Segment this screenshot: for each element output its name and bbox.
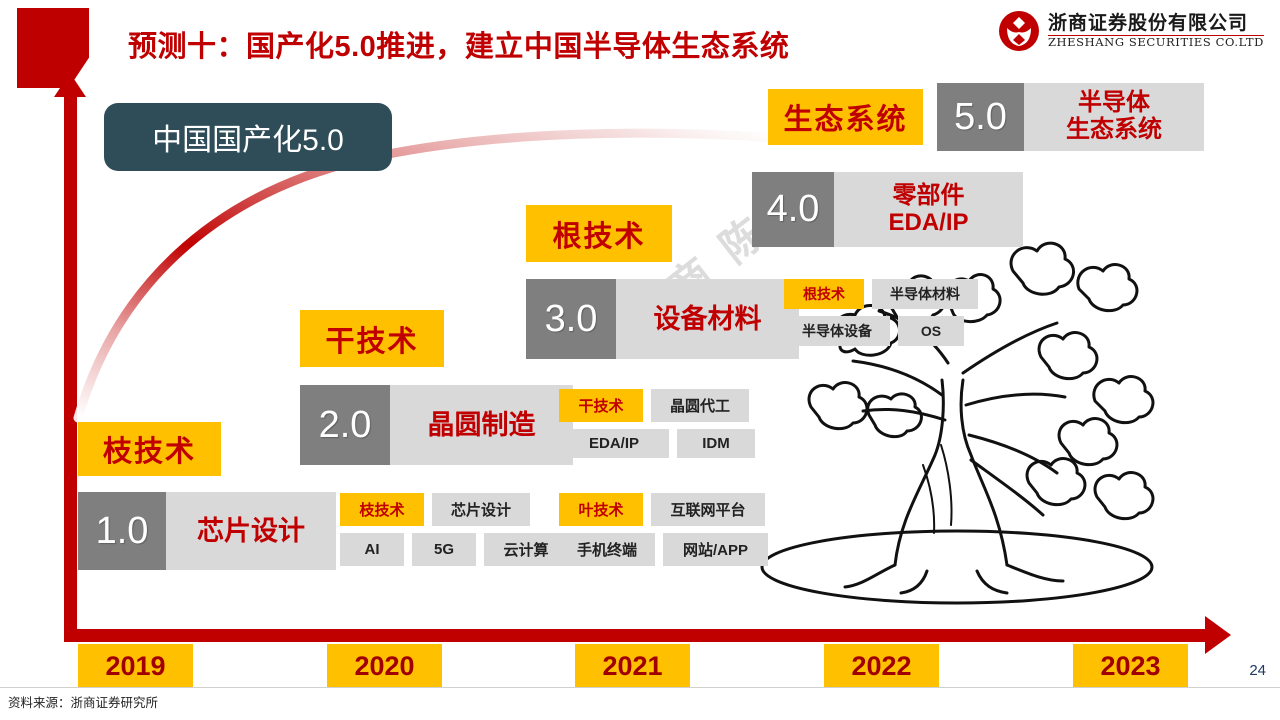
year-label-2020: 2020 (327, 644, 442, 688)
year-label-2023: 2023 (1073, 644, 1188, 688)
chip-trunk-0: 晶圆代工 (651, 389, 749, 422)
category-badge-ecosystem-label: 生态系统 (783, 96, 907, 138)
category-badge-root-main-label: 根技术 (552, 213, 645, 255)
stage-name-2: 晶圆制造 (390, 385, 573, 465)
stage-row-3: 3.0 设备材料 (526, 279, 799, 359)
footer-divider (0, 687, 1280, 688)
page-number: 24 (1249, 662, 1266, 679)
year-label-2022: 2022 (824, 644, 939, 688)
logo-company-cn: 浙商证券股份有限公司 (1048, 14, 1264, 33)
slide-canvas: 预测十：国产化5.0推进，建立中国半导体生态系统 浙商证券股份有限公司 ZHES… (0, 0, 1280, 720)
chip-leaf-2: 网站/APP (663, 533, 768, 566)
tree-illustration (745, 215, 1165, 610)
chip-branch-badge: 枝技术 (340, 493, 424, 526)
chip-branch-3: 云计算 (484, 533, 568, 566)
source-note: 资料来源：浙商证券研究所 (8, 692, 158, 711)
chip-row: 根技术 半导体材料 (784, 279, 978, 309)
chip-cluster-root: 根技术 半导体材料 半导体设备 OS (784, 279, 978, 353)
chip-row: 干技术 晶圆代工 (559, 389, 755, 422)
page-title: 预测十：国产化5.0推进，建立中国半导体生态系统 (128, 23, 789, 65)
year-label-2019: 2019 (78, 644, 193, 688)
hero-label-text: 中国国产化5.0 (152, 115, 344, 159)
logo-text-block: 浙商证券股份有限公司 ZHESHANG SECURITIES CO.LTD (1048, 14, 1264, 49)
chip-branch-1: AI (340, 533, 404, 566)
logo-company-en: ZHESHANG SECURITIES CO.LTD (1048, 37, 1264, 49)
category-badge-trunk-label: 干技术 (325, 318, 418, 360)
chip-leaf-badge: 叶技术 (559, 493, 643, 526)
stage-name-5-line2: 生态系统 (1066, 117, 1162, 144)
chip-cluster-branch: 枝技术 芯片设计 AI 5G 云计算 (340, 493, 568, 573)
chip-row: 叶技术 互联网平台 (559, 493, 768, 526)
chip-root-2: OS (898, 316, 964, 346)
chip-cluster-trunk: 干技术 晶圆代工 EDA/IP IDM (559, 389, 755, 465)
category-badge-branch: 枝技术 (78, 422, 221, 476)
stage-name-4-line1: 零部件 (893, 183, 965, 210)
chip-leaf-0: 互联网平台 (651, 493, 765, 526)
chip-root-0: 半导体材料 (872, 279, 978, 309)
company-logo: 浙商证券股份有限公司 ZHESHANG SECURITIES CO.LTD (998, 10, 1264, 52)
chip-cluster-leaf: 叶技术 互联网平台 手机终端 网站/APP (559, 493, 768, 573)
chip-row: AI 5G 云计算 (340, 533, 568, 566)
chip-root-1: 半导体设备 (784, 316, 890, 346)
chip-branch-0: 芯片设计 (432, 493, 530, 526)
stage-row-5: 5.0 半导体 生态系统 (937, 83, 1204, 151)
stage-number-3: 3.0 (526, 279, 616, 359)
stage-number-1: 1.0 (78, 492, 166, 570)
chip-row: 枝技术 芯片设计 (340, 493, 568, 526)
stage-number-4: 4.0 (752, 172, 834, 247)
category-badge-ecosystem: 生态系统 (768, 89, 923, 145)
chip-row: EDA/IP IDM (559, 429, 755, 458)
zheshang-logo-icon (998, 10, 1040, 52)
stage-row-2: 2.0 晶圆制造 (300, 385, 573, 465)
chip-leaf-1: 手机终端 (559, 533, 655, 566)
chip-row: 手机终端 网站/APP (559, 533, 768, 566)
stage-number-5: 5.0 (937, 83, 1024, 151)
chip-root-badge: 根技术 (784, 279, 864, 309)
category-badge-trunk: 干技术 (300, 310, 444, 367)
x-axis-arrow-icon (1205, 616, 1231, 654)
y-axis (64, 92, 77, 642)
x-axis-timeline (64, 629, 1209, 642)
stage-name-3: 设备材料 (616, 279, 799, 359)
stage-row-1: 1.0 芯片设计 (78, 492, 336, 570)
stage-name-4: 零部件 EDA/IP (834, 172, 1023, 247)
category-badge-branch-label: 枝技术 (103, 428, 196, 470)
chip-branch-2: 5G (412, 533, 476, 566)
stage-name-5-line1: 半导体 (1078, 90, 1150, 117)
year-label-2021: 2021 (575, 644, 690, 688)
stage-number-2: 2.0 (300, 385, 390, 465)
stage-name-5: 半导体 生态系统 (1024, 83, 1204, 151)
hero-label-box: 中国国产化5.0 (104, 103, 392, 171)
category-badge-root-main: 根技术 (526, 205, 672, 262)
chip-trunk-2: IDM (677, 429, 755, 458)
stage-name-4-line2: EDA/IP (888, 210, 968, 237)
chip-trunk-badge: 干技术 (559, 389, 643, 422)
stage-row-4: 4.0 零部件 EDA/IP (752, 172, 1023, 247)
stage-name-1: 芯片设计 (166, 492, 336, 570)
chip-trunk-1: EDA/IP (559, 429, 669, 458)
chip-row: 半导体设备 OS (784, 316, 978, 346)
